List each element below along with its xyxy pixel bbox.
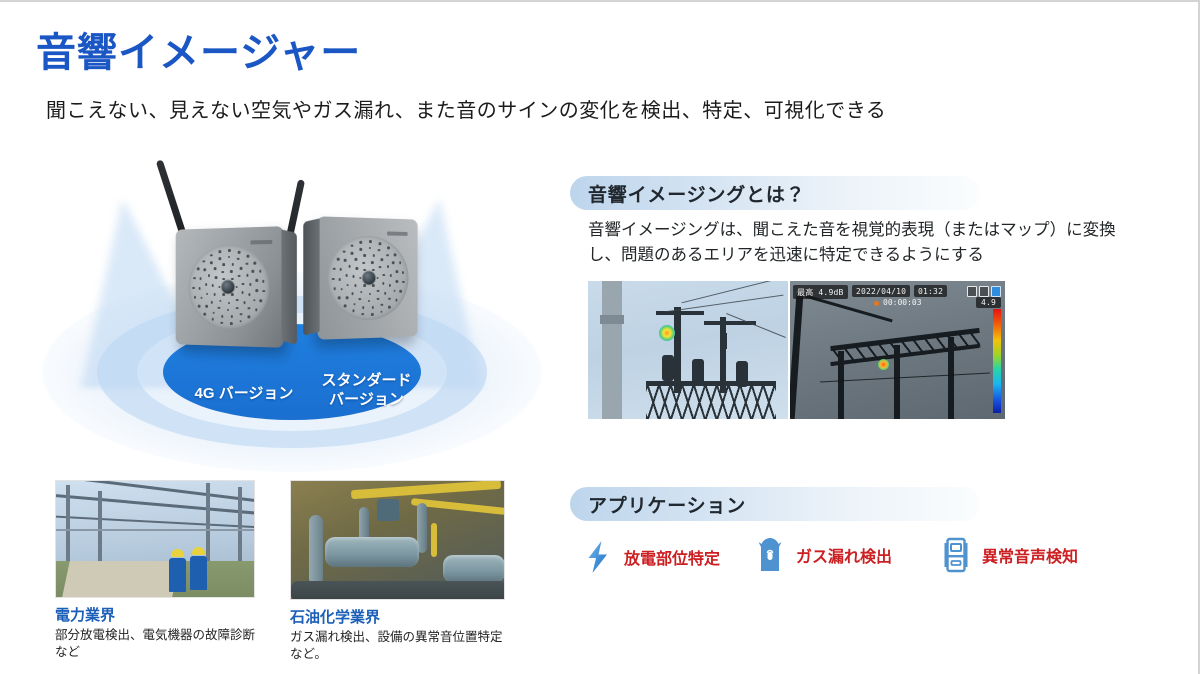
microphone-hole <box>230 315 233 318</box>
microphone-hole <box>241 292 244 295</box>
microphone-hole <box>372 254 374 257</box>
microphone-hole <box>388 298 390 301</box>
hero-device-illustration: 4G バージョン スタンダード バージョン <box>32 160 552 480</box>
microphone-hole <box>344 304 347 307</box>
microphone-hole <box>387 265 389 268</box>
microphone-hole <box>262 280 265 283</box>
microphone-hole <box>228 249 230 252</box>
microphone-hole <box>242 282 245 285</box>
gas-cylinder-icon <box>754 536 786 574</box>
microphone-hole <box>377 298 379 301</box>
microphone-hole <box>376 277 378 280</box>
microphone-hole <box>369 293 371 296</box>
yellow-riser <box>431 523 437 557</box>
worker-2 <box>189 547 207 590</box>
device-standard-label: スタンダード バージョン <box>304 372 429 410</box>
worker-1 <box>168 549 186 592</box>
microphone-hole <box>208 274 210 277</box>
microphone-hole <box>200 297 202 300</box>
device-standard-label-line1: スタンダード <box>304 372 429 391</box>
acoustic-camera-screenshot: 最高 4.9dB 2022/04/10 01:32 00:00:03 4.9 <box>790 281 1005 419</box>
microphone-hole <box>204 313 206 316</box>
camera-lens-icon <box>221 279 235 294</box>
microphone-hole <box>395 299 397 302</box>
microphone-hole <box>230 322 233 325</box>
acoustic-hotspot-marker <box>878 359 889 370</box>
microphone-hole <box>205 283 207 286</box>
microphone-hole <box>210 254 212 257</box>
microphone-hole <box>355 258 358 261</box>
microphone-hole <box>219 300 221 303</box>
db-color-scale-bar <box>993 309 1001 413</box>
device-side-panel <box>303 218 319 336</box>
microphone-hole <box>255 279 258 282</box>
status-icon-group <box>967 286 1001 297</box>
transmission-tower-photo <box>588 281 788 419</box>
worker-body <box>169 558 186 592</box>
microphone-hole <box>218 307 220 310</box>
microphone-hole <box>334 287 337 290</box>
walkway <box>62 561 180 597</box>
microphone-hole <box>246 274 249 277</box>
microphone-hole <box>382 282 384 285</box>
microphone-hole <box>248 293 251 296</box>
industry-card-power: 電力業界 部分放電検出、電気機器の故障診断など <box>55 480 255 661</box>
microphone-hole <box>213 293 215 296</box>
microphone-hole <box>238 251 241 254</box>
acoustic-hotspot-marker <box>659 325 675 341</box>
microphone-hole <box>379 266 381 269</box>
horizontal-vessel-1 <box>325 537 419 567</box>
microphone-hole <box>378 249 380 252</box>
industry-desc-power: 部分放電検出、電気機器の故障診断など <box>55 627 255 661</box>
microphone-hole <box>253 299 256 302</box>
microphone-hole <box>203 260 205 263</box>
microphone-hole <box>352 310 355 313</box>
microphone-hole <box>198 287 200 290</box>
microphone-hole <box>396 280 398 283</box>
busbar <box>56 529 255 531</box>
microphone-hole <box>363 254 366 257</box>
microphone-hole <box>361 313 364 316</box>
application-label-gas-leak: ガス漏れ検出 <box>796 543 892 567</box>
microphone-hole <box>259 270 262 273</box>
microphone-hole <box>206 293 208 296</box>
lightning-bolt-icon <box>582 538 614 576</box>
microphone-hole <box>218 257 220 260</box>
microphone-hole <box>348 265 351 268</box>
microphone-hole <box>260 300 263 303</box>
what-is-body-text: 音響イメージングは、聞こえた音を視覚的表現（またはマップ）に変換し、問題のあるエ… <box>588 218 1118 268</box>
microphone-hole <box>359 248 362 251</box>
horizontal-vessel-2 <box>443 555 505 583</box>
microphone-hole <box>211 318 213 321</box>
microphone-hole <box>340 268 343 271</box>
microphone-hole <box>363 262 366 265</box>
microphone-hole <box>393 290 395 293</box>
microphone-hole <box>221 315 223 318</box>
industry-title-power: 電力業界 <box>55 604 255 625</box>
microphone-hole <box>386 254 388 257</box>
hd-mode-icon <box>991 286 1001 297</box>
microphone-hole <box>338 297 341 300</box>
device-side-panel <box>281 229 296 345</box>
microphone-hole <box>371 306 373 309</box>
battery-icon <box>967 286 977 297</box>
microphone-array <box>328 235 409 321</box>
microphone-hole <box>351 244 354 247</box>
microphone-hole <box>394 253 396 256</box>
microphone-hole <box>214 267 216 270</box>
microphone-hole <box>193 277 195 280</box>
microphone-hole <box>212 284 214 287</box>
tower-leg-1 <box>838 351 844 419</box>
microphone-hole <box>371 261 373 264</box>
microphone-hole <box>390 274 392 277</box>
hard-hat-icon <box>171 549 184 557</box>
device-brand-mark <box>387 231 407 235</box>
microphone-hole <box>377 290 379 293</box>
microphone-hole <box>379 242 381 245</box>
microphone-hole <box>402 281 404 284</box>
page-title: 音響イメージャー <box>36 20 361 78</box>
microphone-hole <box>380 311 382 314</box>
microphone-hole <box>239 320 242 323</box>
microphone-hole <box>256 289 259 292</box>
microphone-hole <box>220 321 222 324</box>
microphone-hole <box>372 284 374 287</box>
microphone-hole <box>369 240 371 243</box>
date-readout: 2022/04/10 <box>852 285 910 297</box>
microphone-hole <box>392 261 394 264</box>
device-standard-label-line2: バージョン <box>304 391 429 410</box>
microphone-hole <box>343 250 346 253</box>
application-item-gas-leak[interactable]: ガス漏れ検出 <box>754 536 892 574</box>
section-header-applications: アプリケーション <box>570 487 980 521</box>
vertical-pipe-1 <box>309 515 323 585</box>
microphone-hole <box>380 303 382 306</box>
time-readout: 01:32 <box>914 285 947 297</box>
microphone-hole <box>389 284 391 287</box>
microphone-hole <box>210 262 212 265</box>
microphone-hole <box>369 247 371 250</box>
microphone-hole <box>381 258 383 261</box>
device-4g-version <box>176 226 284 348</box>
microphone-hole <box>197 268 199 271</box>
power-substation-photo <box>55 480 255 598</box>
microphone-hole <box>360 241 363 244</box>
microphone-hole <box>359 298 362 301</box>
microphone-hole <box>205 305 207 308</box>
storage-icon <box>979 286 989 297</box>
applications-heading: アプリケーション <box>588 491 746 518</box>
tower-brace-1 <box>678 325 681 341</box>
slide-root: 音響イメージャー 聞こえない、見えない空気やガス漏れ、また音のサインの変化を検出… <box>0 0 1200 674</box>
microphone-hole <box>255 308 258 311</box>
microphone-hole <box>400 290 402 293</box>
device-4g-label: 4G バージョン <box>184 385 304 404</box>
microphone-hole <box>252 270 255 273</box>
max-db-readout: 最高 4.9dB <box>793 285 848 299</box>
tower-crossarm-1 <box>656 311 704 315</box>
microphone-hole <box>351 252 354 255</box>
microphone-hole <box>353 303 356 306</box>
microphone-hole <box>222 293 224 296</box>
microphone-hole <box>247 255 250 258</box>
applications-list: 放電部位特定 ガス漏れ検出 <box>582 532 1122 592</box>
scale-max-value: 4.9 <box>976 297 1001 308</box>
microphone-hole <box>227 309 229 312</box>
elapsed-time-readout: 00:00:03 <box>883 298 922 307</box>
petrochemical-plant-photo <box>290 480 505 600</box>
microphone-hole <box>238 274 241 277</box>
microphone-hole <box>360 291 363 294</box>
microphone-hole <box>341 288 344 291</box>
microphone-hole <box>362 306 365 309</box>
microphone-hole <box>237 257 240 260</box>
microphone-hole <box>235 286 238 289</box>
microphone-hole <box>198 305 200 308</box>
microphone-hole <box>346 296 349 299</box>
microphone-hole <box>240 267 243 270</box>
microphone-hole <box>240 313 243 316</box>
microphone-hole <box>230 270 233 273</box>
microphone-hole <box>192 287 194 290</box>
microphone-hole <box>337 258 340 261</box>
microphone-hole <box>332 278 335 281</box>
camera-lens-icon <box>362 270 376 285</box>
equipment-cabinet-icon <box>940 536 972 574</box>
industry-card-petrochemical: 石油化学業界 ガス漏れ検出、設備の異常音位置特定など。 <box>290 480 505 663</box>
application-label-abnormal-sound: 異常音声検知 <box>982 543 1078 567</box>
microphone-hole <box>387 247 389 250</box>
microphone-hole <box>248 315 251 318</box>
microphone-hole <box>388 306 390 309</box>
microphone-hole <box>245 262 248 265</box>
what-is-heading: 音響イメージングとは？ <box>588 180 805 207</box>
microphone-hole <box>254 262 257 265</box>
worker-body <box>190 556 207 590</box>
microphone-hole <box>236 307 239 310</box>
microphone-array <box>189 244 270 330</box>
plant-floor <box>291 581 505 600</box>
page-subtitle: 聞こえない、見えない空気やガス漏れ、また音のサインの変化を検出、特定、可視化でき… <box>46 94 886 123</box>
device-brand-mark <box>250 240 272 245</box>
tower-lattice <box>646 386 776 419</box>
microphone-hole <box>228 256 230 259</box>
microphone-hole <box>402 271 404 274</box>
microphone-hole <box>344 259 347 262</box>
microphone-hole <box>228 302 230 305</box>
microphone-hole <box>204 269 206 272</box>
microphone-hole <box>354 284 357 287</box>
microphone-hole <box>371 313 373 316</box>
microphone-hole <box>249 283 252 286</box>
application-item-abnormal-sound[interactable]: 異常音声検知 <box>940 536 1078 574</box>
microphone-hole <box>212 311 214 314</box>
industry-desc-petrochemical: ガス漏れ検出、設備の異常音位置特定など。 <box>290 629 505 663</box>
tower-leg-3 <box>948 337 954 419</box>
microphone-hole <box>363 284 366 287</box>
device-standard-version <box>318 216 418 339</box>
tower-leg-2 <box>894 345 900 419</box>
concrete-pole <box>602 281 622 419</box>
microphone-hole <box>346 284 349 287</box>
microphone-hole <box>384 292 386 295</box>
microphone-hole <box>399 262 401 265</box>
recording-indicator-icon <box>874 301 879 306</box>
microphone-hole <box>231 293 234 296</box>
microphone-hole <box>219 250 221 253</box>
control-box <box>377 499 399 521</box>
microphone-hole <box>355 267 358 270</box>
microphone-hole <box>222 271 224 274</box>
microphone-hole <box>210 301 212 304</box>
microphone-hole <box>333 267 336 270</box>
microphone-hole <box>352 275 355 278</box>
microphone-hole <box>247 307 250 310</box>
hard-hat-icon <box>192 547 205 555</box>
application-item-partial-discharge[interactable]: 放電部位特定 <box>582 538 720 576</box>
microphone-hole <box>200 277 202 280</box>
microphone-hole <box>222 263 224 266</box>
microphone-hole <box>345 274 348 277</box>
microphone-hole <box>368 300 370 303</box>
microphone-hole <box>236 299 239 302</box>
microphone-hole <box>243 301 246 304</box>
pylon-1 <box>66 485 70 571</box>
pole-collar <box>600 315 624 324</box>
industry-title-petrochemical: 石油化学業界 <box>290 606 505 627</box>
microphone-hole <box>383 274 385 277</box>
microphone-hole <box>194 296 196 299</box>
microphone-hole <box>396 270 398 273</box>
microphone-hole <box>231 263 234 266</box>
application-label-partial-discharge: 放電部位特定 <box>624 545 720 569</box>
tower-brace-2 <box>724 333 727 349</box>
microphone-hole <box>262 290 265 293</box>
section-header-what-is-acoustic-imaging: 音響イメージングとは？ <box>570 176 980 210</box>
microphone-hole <box>215 276 217 279</box>
insulator-1 <box>662 355 674 381</box>
microphone-hole <box>351 292 354 295</box>
microphone-hole <box>338 278 341 281</box>
